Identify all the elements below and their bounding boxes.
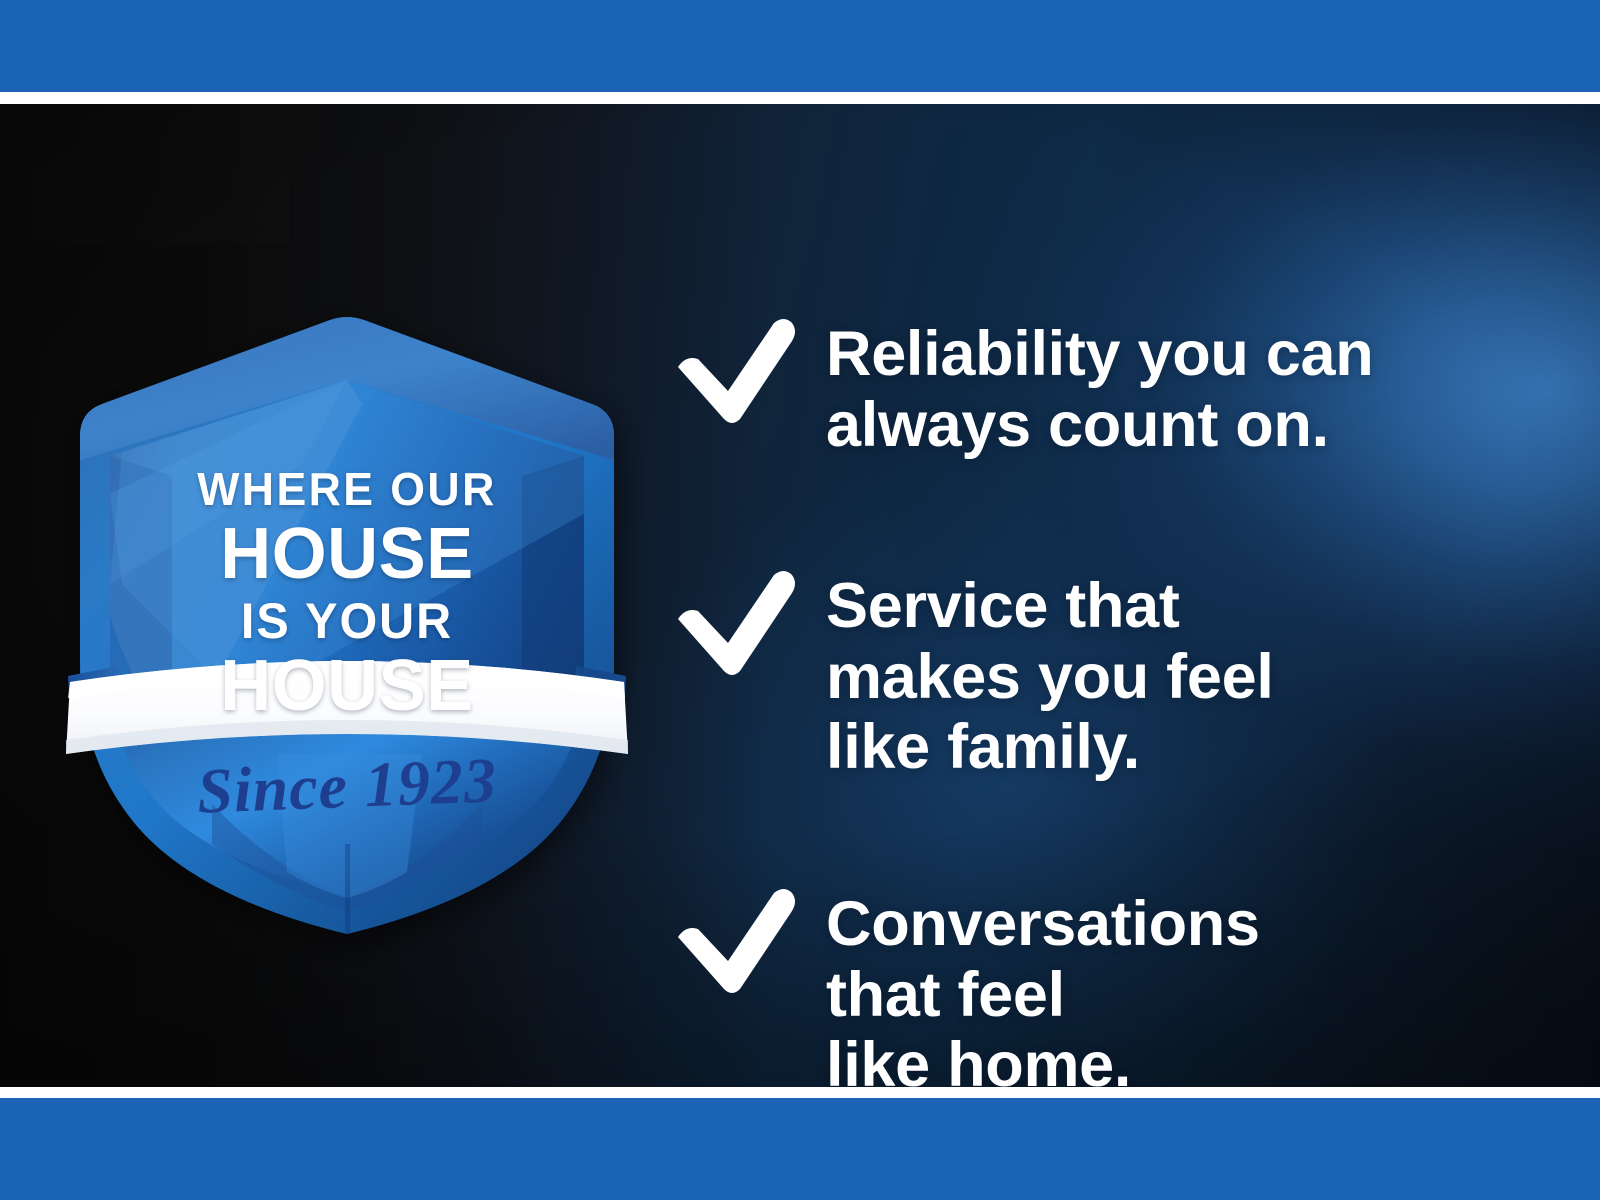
shield-badge: WHERE OUR HOUSE IS YOUR HOUSE Since 1923 bbox=[62, 284, 632, 934]
bottom-brand-band bbox=[0, 1098, 1600, 1200]
benefit-text-service: Service that makes you feel like family. bbox=[826, 565, 1532, 783]
benefit-line: Reliability you can bbox=[826, 319, 1532, 390]
promo-poster: WHERE OUR HOUSE IS YOUR HOUSE Since 1923… bbox=[0, 0, 1600, 1200]
benefit-line: makes you feel bbox=[826, 642, 1532, 713]
background-grain-texture bbox=[0, 104, 290, 244]
poster-canvas: WHERE OUR HOUSE IS YOUR HOUSE Since 1923… bbox=[0, 104, 1600, 1087]
benefit-text-conversations: Conversations that feel like home. bbox=[826, 883, 1532, 1087]
benefit-line: like home. bbox=[826, 1030, 1532, 1087]
top-brand-band bbox=[0, 0, 1600, 92]
check-icon bbox=[672, 567, 800, 679]
benefit-item-conversations: Conversations that feel like home. bbox=[672, 883, 1532, 1087]
benefit-item-reliability: Reliability you can always count on. bbox=[672, 313, 1532, 460]
check-icon bbox=[672, 885, 800, 997]
benefit-line: like family. bbox=[826, 712, 1532, 783]
benefit-line: always count on. bbox=[826, 390, 1532, 461]
benefit-line: Service that bbox=[826, 571, 1532, 642]
check-icon bbox=[672, 315, 800, 427]
benefit-line: that feel bbox=[826, 960, 1532, 1031]
benefit-line: Conversations bbox=[826, 889, 1532, 960]
benefit-text-reliability: Reliability you can always count on. bbox=[826, 313, 1532, 460]
benefits-list: Reliability you can always count on. Ser… bbox=[672, 208, 1532, 1087]
benefit-item-service: Service that makes you feel like family. bbox=[672, 565, 1532, 783]
